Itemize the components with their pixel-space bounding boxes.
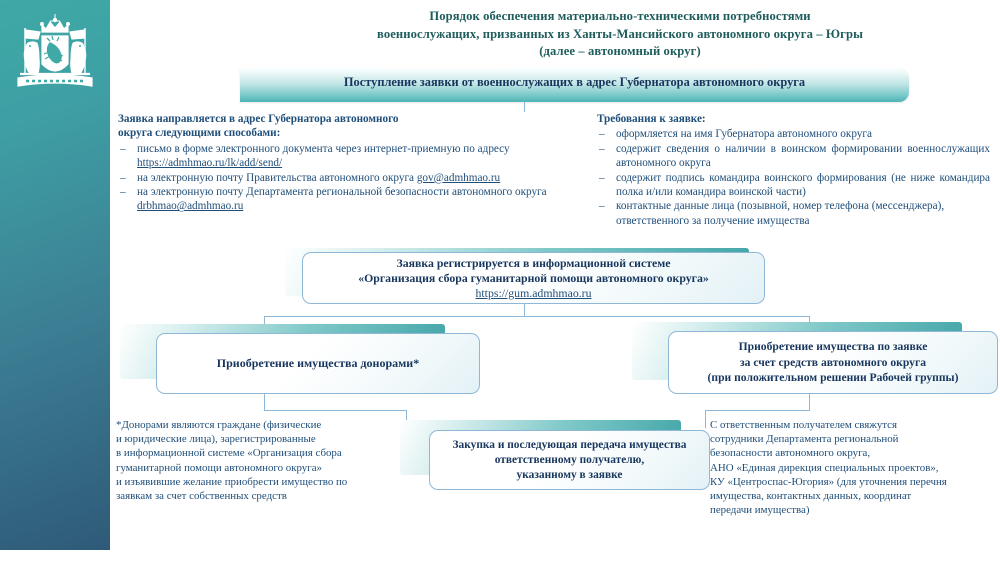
- slide-canvas: Порядок обеспечения материально-техничес…: [0, 0, 1000, 562]
- submission-methods-heading: Заявка направляется в адрес Губернатора …: [118, 112, 558, 141]
- list-item-text: на электронную почту Правительства автон…: [137, 172, 417, 184]
- submission-methods-list: – письмо в форме электронного документа …: [118, 142, 558, 214]
- dash-bullet-icon: –: [599, 199, 605, 213]
- node-okrug-text: Приобретение имущества по заявке за счет…: [669, 339, 997, 386]
- dash-bullet-icon: –: [120, 185, 126, 199]
- node-card: Закупка и последующая передача имущества…: [429, 430, 710, 490]
- application-requirements-column: Требования к заявке: – оформляется на им…: [597, 112, 990, 228]
- connector-register-stem: [524, 304, 525, 316]
- node-donors-text: Приобретение имущества донорами*: [157, 356, 479, 372]
- list-item-text: письмо в форме электронного документа че…: [137, 143, 510, 155]
- node-card: Приобретение имущества по заявке за счет…: [668, 331, 998, 394]
- link-gov-email[interactable]: gov@admhmao.ru: [417, 172, 500, 184]
- title-line-1: Порядок обеспечения материально-техничес…: [250, 8, 990, 26]
- list-item-text: на электронную почту Департамента регион…: [137, 186, 547, 198]
- dash-bullet-icon: –: [599, 142, 605, 156]
- contact-note: С ответственным получателем свяжутся сот…: [710, 418, 995, 517]
- node-donors-purchase: Приобретение имущества донорами*: [120, 324, 480, 394]
- title-line-3: (далее – автономный округ): [250, 43, 990, 61]
- list-item: – контактные данные лица (позывной, номе…: [597, 199, 990, 228]
- list-item: – содержит подпись командира воинского ф…: [597, 171, 990, 200]
- node-purchase-and-transfer: Закупка и последующая передача имущества…: [400, 420, 710, 490]
- list-item-text: контактные данные лица (позывной, номер …: [616, 200, 944, 226]
- application-requirements-list: – оформляется на имя Губернатора автоном…: [597, 127, 990, 228]
- dash-bullet-icon: –: [120, 171, 126, 185]
- connector-donors-down: [264, 394, 265, 410]
- list-item-text: содержит сведения о наличии в воинском ф…: [616, 143, 990, 169]
- node-card: Заявка регистрируется в информационной с…: [302, 252, 765, 304]
- donors-footnote: *Донорами являются граждане (физические …: [116, 418, 396, 503]
- node-card: Приобретение имущества донорами*: [156, 333, 480, 394]
- connector-okrug-down: [809, 394, 810, 410]
- left-sidebar-band: [0, 0, 110, 550]
- list-item: – оформляется на имя Губернатора автоном…: [597, 127, 990, 141]
- connector-banner-to-register: [524, 102, 525, 112]
- node-purchase-text: Закупка и последующая передача имущества…: [430, 438, 709, 483]
- list-item-text: оформляется на имя Губернатора автономно…: [616, 128, 872, 140]
- submission-methods-column: Заявка направляется в адрес Губернатора …: [118, 112, 558, 214]
- coat-of-arms-emblem-icon: [6, 8, 104, 100]
- node-okrug-funded-purchase: Приобретение имущества по заявке за счет…: [632, 322, 998, 394]
- dash-bullet-icon: –: [599, 127, 605, 141]
- connector-okrug-left: [705, 410, 810, 411]
- list-item: – письмо в форме электронного документа …: [118, 142, 558, 171]
- list-item: – на электронную почту Правительства авт…: [118, 171, 558, 185]
- connector-donors-right: [264, 410, 406, 411]
- section-banner-label: Поступление заявки от военнослужащих в а…: [240, 75, 909, 90]
- link-gum-system[interactable]: https://gum.admhmao.ru: [476, 286, 592, 300]
- list-item-text: содержит подпись командира воинского фор…: [616, 172, 990, 198]
- connector-branch-bar: [264, 316, 809, 317]
- list-item: – содержит сведения о наличии в воинском…: [597, 142, 990, 171]
- link-drb-email[interactable]: drbhmao@admhmao.ru: [137, 200, 243, 212]
- page-title: Порядок обеспечения материально-техничес…: [250, 8, 990, 61]
- list-item: – на электронную почту Департамента реги…: [118, 185, 558, 214]
- link-internet-reception[interactable]: https://admhmao.ru/lk/add/send/: [137, 157, 282, 169]
- dash-bullet-icon: –: [599, 171, 605, 185]
- title-line-2: военнослужащих, призванных из Ханты-Манс…: [250, 26, 990, 44]
- dash-bullet-icon: –: [120, 142, 126, 156]
- section-banner: Поступление заявки от военнослужащих в а…: [240, 68, 909, 102]
- node-registration: Заявка регистрируется в информационной с…: [285, 248, 765, 304]
- node-registration-text: Заявка регистрируется в информационной с…: [303, 256, 764, 301]
- application-requirements-heading: Требования к заявке:: [597, 112, 990, 126]
